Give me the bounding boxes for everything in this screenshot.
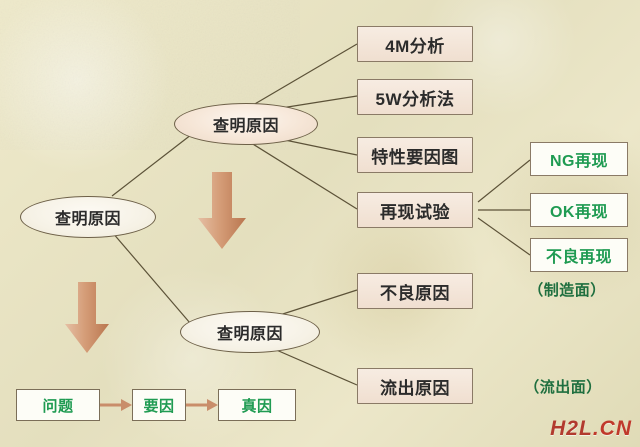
flow-step-factor[interactable]: 要因: [132, 389, 186, 421]
node-ng-reproduce[interactable]: NG再现: [530, 142, 628, 176]
node-defect-cause[interactable]: 不良原因: [357, 273, 473, 309]
node-ok-reproduce[interactable]: OK再现: [530, 193, 628, 227]
watermark-text: H2L: [550, 417, 593, 440]
watermark-suffix: .CN: [593, 417, 632, 440]
node-outflow-cause[interactable]: 流出原因: [357, 368, 473, 404]
down-arrow-lower: [64, 280, 112, 356]
node-defect-reproduce[interactable]: 不良再现: [530, 238, 628, 272]
node-cause-effect-diagram[interactable]: 特性要因图: [357, 137, 473, 173]
label-manufacturing-side: （制造面）: [502, 277, 632, 301]
label-outflow-side: （流出面）: [498, 374, 628, 398]
node-reproduce-test[interactable]: 再现试验: [357, 192, 473, 228]
diagram-canvas: 查明原因 查明原因 查明原因 4M分析 5W分析法 特性要因图 再现试验 NG再…: [0, 0, 640, 447]
flow-step-problem[interactable]: 问题: [16, 389, 100, 421]
flow-step-root-cause[interactable]: 真因: [218, 389, 296, 421]
node-branch-top[interactable]: 查明原因: [174, 103, 318, 145]
node-4m-analysis[interactable]: 4M分析: [357, 26, 473, 62]
down-arrow-upper: [196, 170, 248, 252]
node-root[interactable]: 查明原因: [20, 196, 156, 238]
watermark: H2L.CN: [550, 417, 632, 441]
node-5w-analysis[interactable]: 5W分析法: [357, 79, 473, 115]
node-branch-bottom[interactable]: 查明原因: [180, 311, 320, 353]
